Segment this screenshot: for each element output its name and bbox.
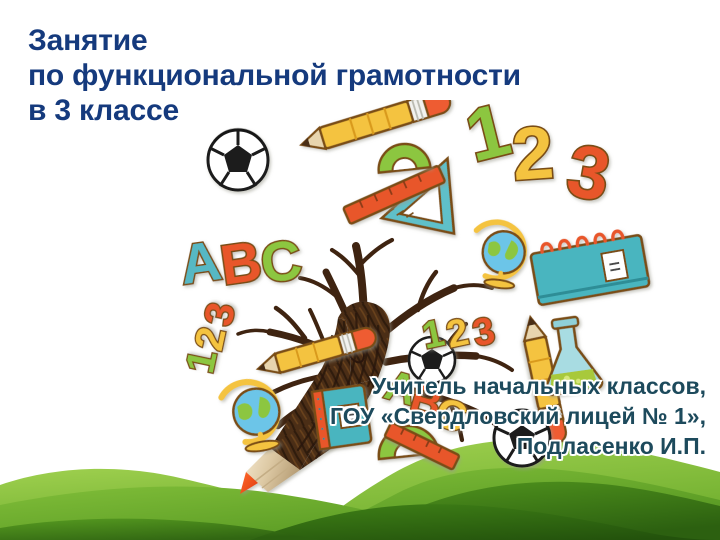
triangle-ruler-icon (382, 148, 469, 234)
svg-text:2: 2 (443, 311, 472, 356)
hill-layer-foreground-left (0, 519, 320, 540)
protractor-icon (376, 141, 430, 172)
letters-abc-icon: A B C (176, 217, 305, 306)
hill-layer-deep (250, 504, 720, 540)
title-line-3: в 3 классе (28, 94, 521, 129)
svg-text:2: 2 (187, 323, 235, 354)
globe-icon-left (219, 377, 285, 456)
svg-text:B: B (216, 229, 265, 297)
ruler-icon-red (343, 165, 445, 224)
svg-text:1: 1 (178, 346, 226, 377)
globe-icon-right (469, 219, 529, 291)
slide-title: Занятие по функциональной грамотности в … (28, 24, 521, 128)
svg-text:C: C (257, 227, 306, 295)
svg-text:3: 3 (469, 310, 498, 355)
hill-layer-mid (0, 468, 720, 540)
author-line-name: Подласенко И.П. (330, 432, 706, 462)
hill-layer-far-left (0, 469, 360, 540)
author-line-role: Учитель начальных классов, (330, 372, 706, 402)
soccer-ball-icon (208, 129, 268, 190)
author-credit: Учитель начальных классов, ГОУ «Свердлов… (330, 372, 706, 462)
notebook-icon-right (529, 227, 650, 305)
svg-text:3: 3 (561, 128, 616, 217)
pencil-icon-left (255, 326, 378, 379)
title-line-1: Занятие (28, 24, 521, 59)
title-line-2: по функциональной грамотности (28, 59, 521, 94)
hill-layer-dark (300, 482, 720, 540)
presentation-slide: 1 2 3 A B C 1 2 3 (0, 0, 720, 540)
numbers-123-icon-left: 1 2 3 (178, 297, 244, 378)
author-line-school: ГОУ «Свердловский лицей № 1», (330, 402, 706, 432)
svg-text:3: 3 (196, 299, 244, 330)
numbers-123-icon-lower: 1 2 3 (419, 302, 499, 366)
svg-text:A: A (176, 228, 225, 296)
svg-text:1: 1 (419, 312, 448, 357)
